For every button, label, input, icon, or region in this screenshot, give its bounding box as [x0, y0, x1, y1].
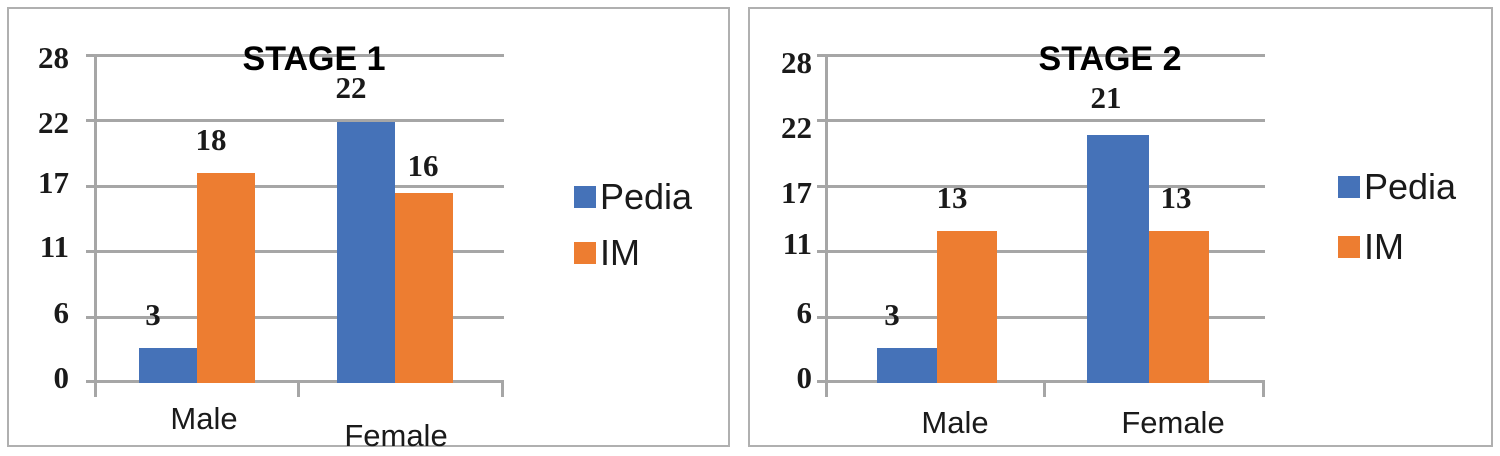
y-tick-label-22: 22 [17, 107, 69, 138]
legend-swatch-pedia-icon [574, 186, 596, 208]
data-label-female-im: 13 [1147, 182, 1205, 213]
data-label-female-im: 16 [394, 150, 452, 181]
data-label-male-pedia: 3 [124, 299, 182, 330]
legend-label-im: IM [600, 235, 640, 271]
data-label-male-im: 13 [923, 182, 981, 213]
bar-male-im [197, 173, 255, 383]
x-tick-end [1262, 380, 1265, 397]
y-tick-mark-6 [86, 316, 97, 319]
legend-label-pedia: Pedia [1364, 169, 1456, 205]
chart-title-stage-2: STAGE 2 [1010, 42, 1210, 76]
y-tick-mark-28 [86, 54, 97, 57]
y-tick-mark-11 [86, 250, 97, 253]
legend-item-im[interactable]: IM [1338, 229, 1404, 265]
legend-label-im: IM [1364, 229, 1404, 265]
legend-item-pedia[interactable]: Pedia [1338, 169, 1456, 205]
y-tick-mark-28 [817, 54, 828, 57]
y-tick-mark-17 [817, 185, 828, 188]
x-tick-middle [297, 380, 300, 397]
plot-area-stage-1: 3 18 22 16 STAGE 1 [94, 54, 504, 383]
data-label-male-pedia: 3 [863, 299, 921, 330]
chart-panel-stage-2: 28 22 17 11 6 0 3 13 [748, 7, 1493, 447]
x-tick-end [501, 380, 504, 397]
chart-panel-stage-1: 28 22 17 11 6 0 [7, 7, 730, 447]
y-tick-label-11: 11 [760, 228, 812, 259]
y-tick-label-6: 6 [17, 297, 69, 328]
y-tick-label-28: 28 [760, 47, 812, 78]
x-tick-start [825, 380, 828, 397]
legend-swatch-im-icon [574, 242, 596, 264]
category-label-male: Male [144, 403, 264, 434]
gridline-17 [94, 185, 504, 188]
y-tick-label-0: 0 [17, 362, 69, 393]
y-axis-line [94, 54, 97, 383]
y-tick-mark-17 [86, 185, 97, 188]
legend-item-im[interactable]: IM [574, 235, 640, 271]
y-tick-label-6: 6 [760, 297, 812, 328]
data-label-female-pedia: 21 [1077, 82, 1135, 113]
y-tick-label-22: 22 [760, 112, 812, 143]
gridline-22 [825, 119, 1265, 122]
y-tick-label-0: 0 [760, 362, 812, 393]
y-tick-label-28: 28 [17, 42, 69, 73]
bar-male-pedia [877, 348, 937, 383]
bar-female-im [1149, 231, 1209, 383]
chart-title-stage-1: STAGE 1 [214, 42, 414, 76]
x-tick-start [94, 380, 97, 397]
y-tick-label-11: 11 [17, 231, 69, 262]
bar-male-pedia [139, 348, 197, 383]
legend-swatch-im-icon [1338, 236, 1360, 258]
data-label-male-im: 18 [182, 124, 240, 155]
category-label-female: Female [1098, 407, 1248, 438]
x-tick-middle [1043, 380, 1046, 397]
bar-female-pedia [1087, 135, 1149, 383]
y-axis-line [825, 54, 828, 383]
legend-swatch-pedia-icon [1338, 176, 1360, 198]
legend-item-pedia[interactable]: Pedia [574, 179, 692, 215]
legend-label-pedia: Pedia [600, 179, 692, 215]
y-tick-mark-22 [86, 119, 97, 122]
y-tick-mark-22 [817, 119, 828, 122]
bar-male-im [937, 231, 997, 383]
y-tick-label-17: 17 [760, 177, 812, 208]
dual-bar-chart-figure: 28 22 17 11 6 0 [0, 0, 1500, 456]
bar-female-pedia [337, 122, 395, 383]
category-label-female: Female [321, 420, 471, 451]
plot-area-stage-2: 3 13 21 13 STAGE 2 [825, 54, 1265, 383]
y-tick-label-17: 17 [17, 167, 69, 198]
y-tick-mark-11 [817, 250, 828, 253]
category-label-male: Male [895, 407, 1015, 438]
bar-female-im [395, 193, 453, 383]
y-tick-mark-6 [817, 316, 828, 319]
gridline-22 [94, 119, 504, 122]
